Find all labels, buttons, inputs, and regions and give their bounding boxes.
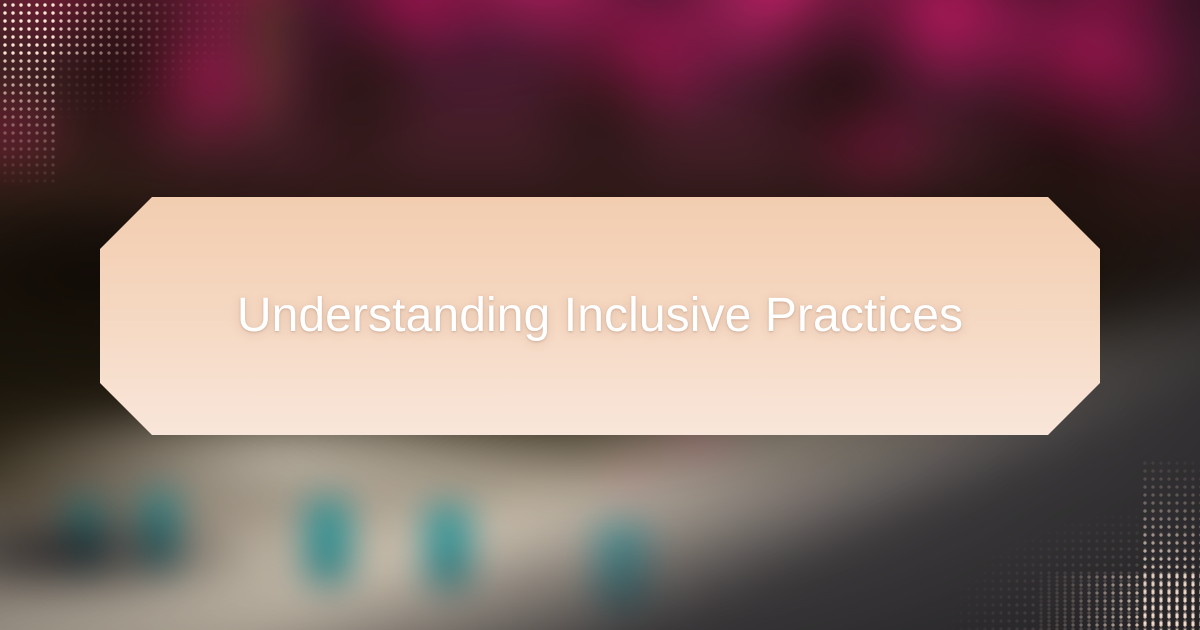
promo-banner-image: Understanding Inclusive Practices xyxy=(0,0,1200,630)
page-title: Understanding Inclusive Practices xyxy=(237,288,963,343)
title-banner: Understanding Inclusive Practices xyxy=(100,197,1100,435)
